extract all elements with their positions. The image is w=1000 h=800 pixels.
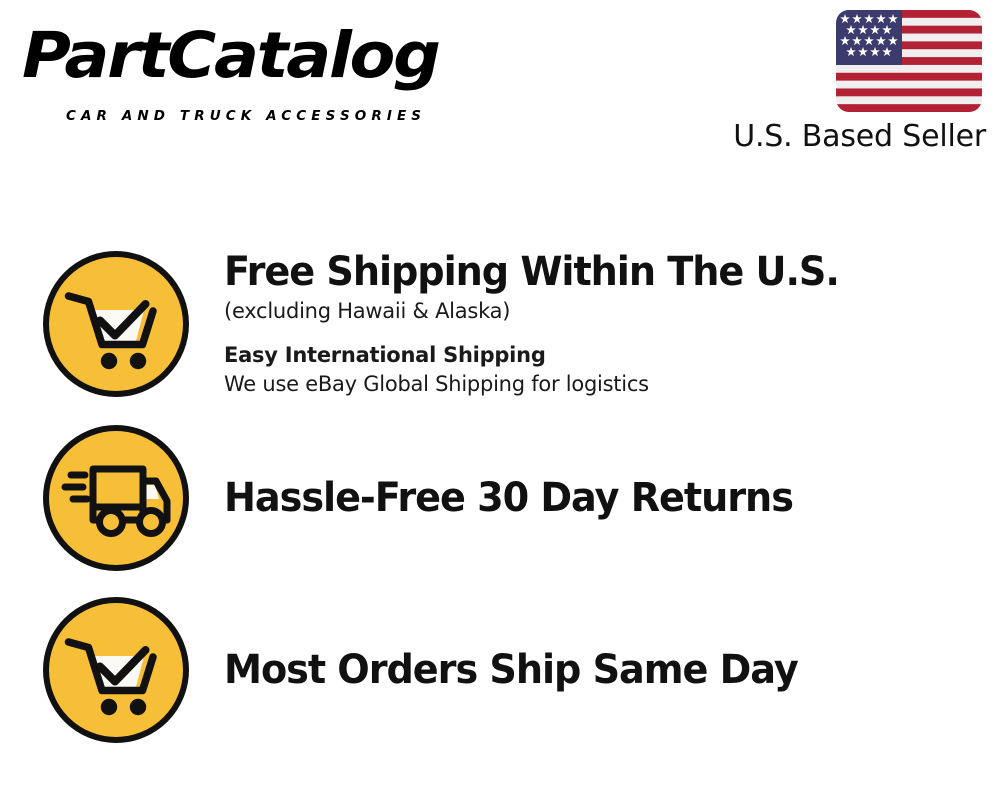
- feature-title: Hassle-Free 30 Day Returns: [224, 475, 946, 522]
- shopping-cart-check-icon: [40, 595, 192, 745]
- feature-subtitle: (excluding Hawaii & Alaska): [224, 296, 980, 327]
- us-flag-svg: [836, 10, 982, 112]
- feature-row: Free Shipping Within The U.S. (excluding…: [0, 236, 1000, 412]
- delivery-truck-icon: [40, 423, 192, 573]
- promo-banner: PartCatalog CAR AND TRUCK ACCESSORIES: [0, 0, 1000, 800]
- feature-title: Free Shipping Within The U.S.: [224, 249, 946, 296]
- brand-wordmark: PartCatalog: [22, 20, 439, 92]
- brand-tagline: CAR AND TRUCK ACCESSORIES: [66, 108, 426, 124]
- us-based-seller-block: U.S. Based Seller: [692, 10, 992, 160]
- feature-text: Hassle-Free 30 Day Returns: [224, 475, 1000, 522]
- cart-icon-svg-1: [41, 249, 191, 399]
- feature-subtitle-detail: We use eBay Global Shipping for logistic…: [224, 369, 980, 400]
- banner-header: PartCatalog CAR AND TRUCK ACCESSORIES: [0, 0, 1000, 170]
- us-flag-icon: [836, 10, 982, 112]
- cart-icon-svg-2: [41, 595, 191, 745]
- feature-text: Free Shipping Within The U.S. (excluding…: [224, 249, 1000, 400]
- feature-text: Most Orders Ship Same Day: [224, 647, 1000, 694]
- feature-row: Hassle-Free 30 Day Returns: [0, 412, 1000, 584]
- brand-logo: PartCatalog CAR AND TRUCK ACCESSORIES: [22, 20, 492, 120]
- feature-title: Most Orders Ship Same Day: [224, 647, 946, 694]
- shopping-cart-check-icon: [40, 249, 192, 399]
- us-based-seller-label: U.S. Based Seller: [733, 118, 986, 156]
- feature-list: Free Shipping Within The U.S. (excluding…: [0, 236, 1000, 756]
- feature-row: Most Orders Ship Same Day: [0, 584, 1000, 756]
- truck-icon-svg: [41, 423, 191, 573]
- feature-subtitle-bold: Easy International Shipping: [224, 341, 980, 369]
